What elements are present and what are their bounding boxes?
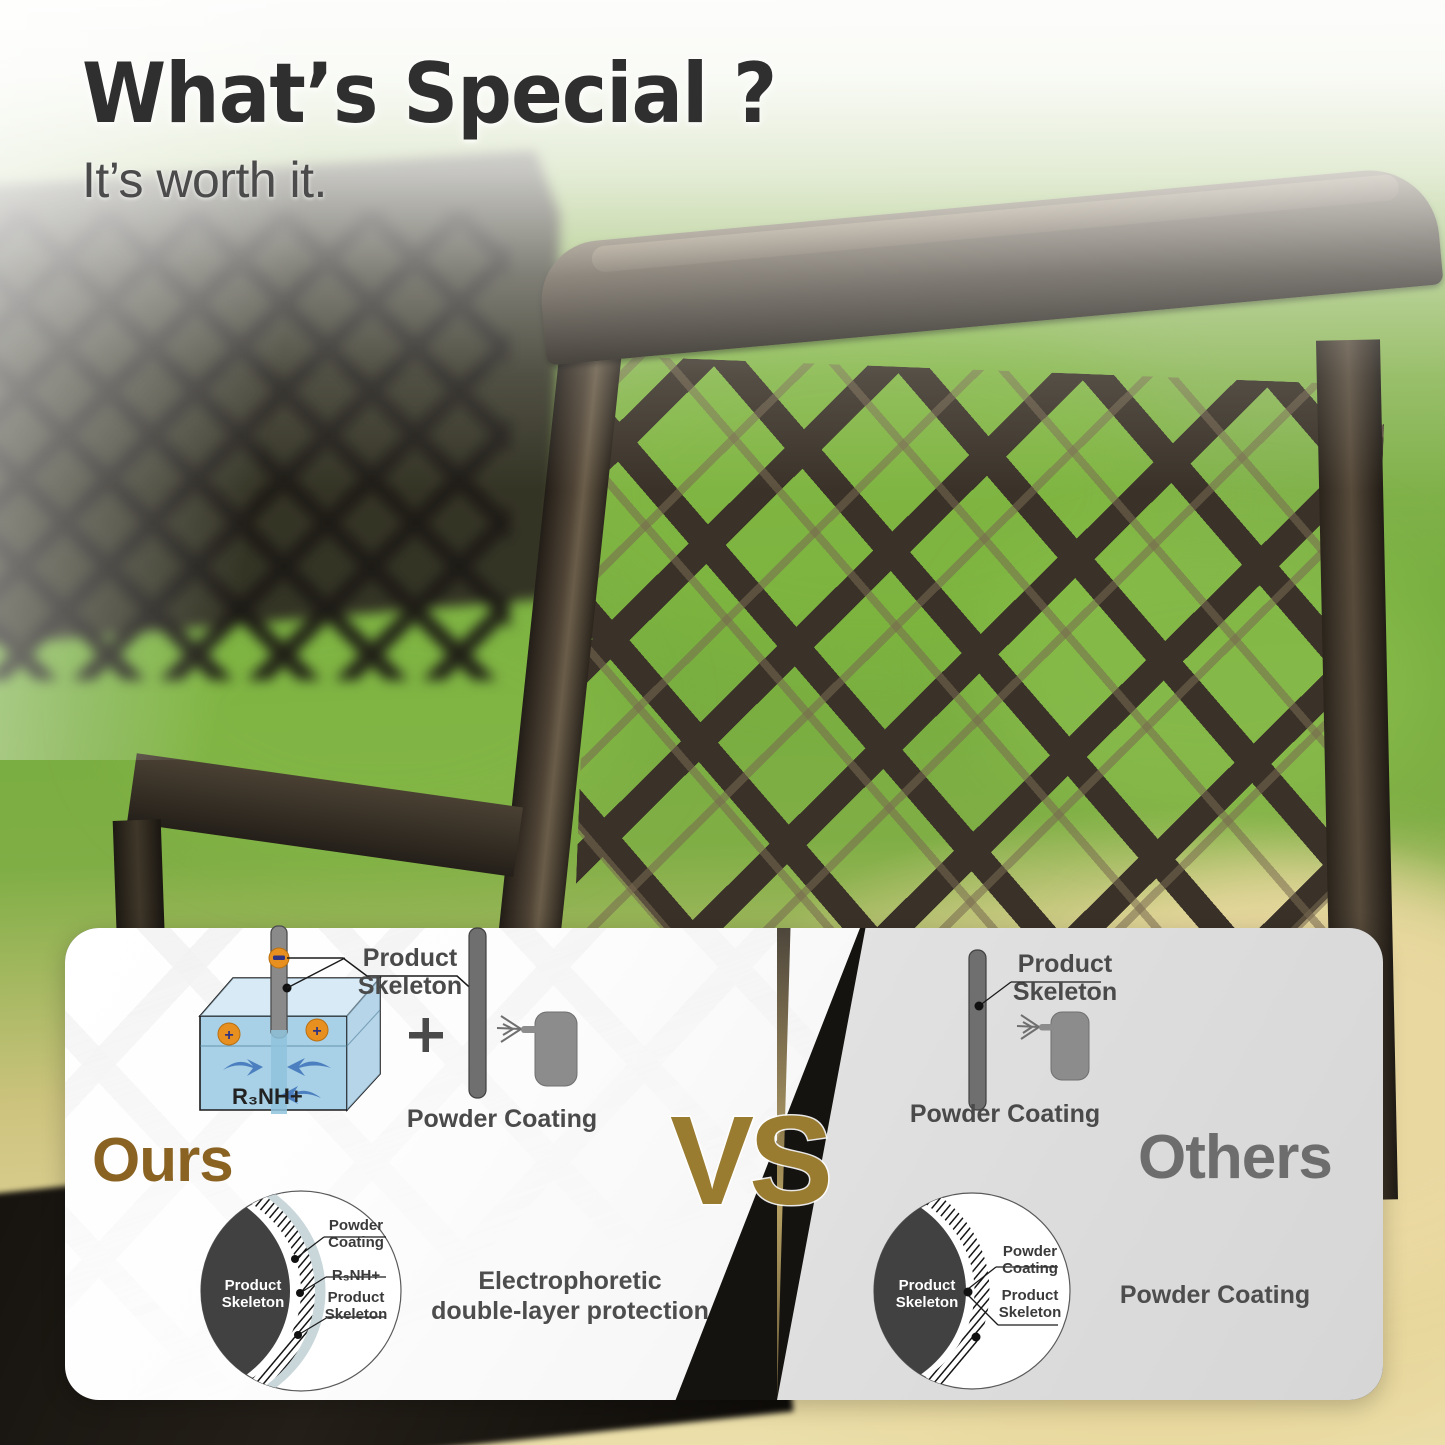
others-core-label: Product Skeleton bbox=[872, 1278, 982, 1312]
plus-operator bbox=[409, 1018, 443, 1052]
cathode-charge-badge bbox=[269, 948, 289, 968]
others-product-skeleton-label: Product Skeleton bbox=[985, 950, 1145, 1006]
others-heading: Others bbox=[1138, 1122, 1332, 1193]
ours-callout-product-skeleton: Product Skeleton bbox=[311, 1290, 401, 1324]
ours-callout-electrophoretic: R₃NH+ bbox=[311, 1268, 401, 1285]
ours-core-label: Product Skeleton bbox=[198, 1278, 308, 1312]
powder-spray-gun bbox=[497, 1012, 577, 1086]
ours-powder-coating-label: Powder Coating bbox=[392, 1105, 612, 1133]
heading-block: What’s Special ? It’s worth it. bbox=[82, 52, 837, 209]
vs-heading: VS bbox=[670, 1088, 828, 1233]
ours-electrolyte-label: R₃NH+ bbox=[232, 1085, 342, 1110]
others-product-skeleton-rod bbox=[969, 950, 986, 1110]
ours-product-skeleton-label: Product Skeleton bbox=[330, 944, 490, 1000]
page-title: What’s Special ? bbox=[82, 52, 776, 137]
others-callout-powder-coating: Powder Coating bbox=[985, 1244, 1075, 1278]
others-powder-spray-gun bbox=[1017, 1012, 1089, 1080]
svg-text:+: + bbox=[312, 1023, 321, 1040]
others-powder-coating-label: Powder Coating bbox=[895, 1100, 1115, 1128]
ours-callout-powder-coating: Powder Coating bbox=[311, 1218, 401, 1252]
ours-heading: Ours bbox=[92, 1125, 233, 1196]
page-subtitle: It’s worth it. bbox=[82, 151, 837, 209]
ours-caption: Electrophoretic double-layer protection bbox=[420, 1266, 720, 1326]
others-caption: Powder Coating bbox=[1115, 1280, 1315, 1310]
svg-text:+: + bbox=[224, 1027, 233, 1044]
others-callout-product-skeleton: Product Skeleton bbox=[985, 1288, 1075, 1322]
